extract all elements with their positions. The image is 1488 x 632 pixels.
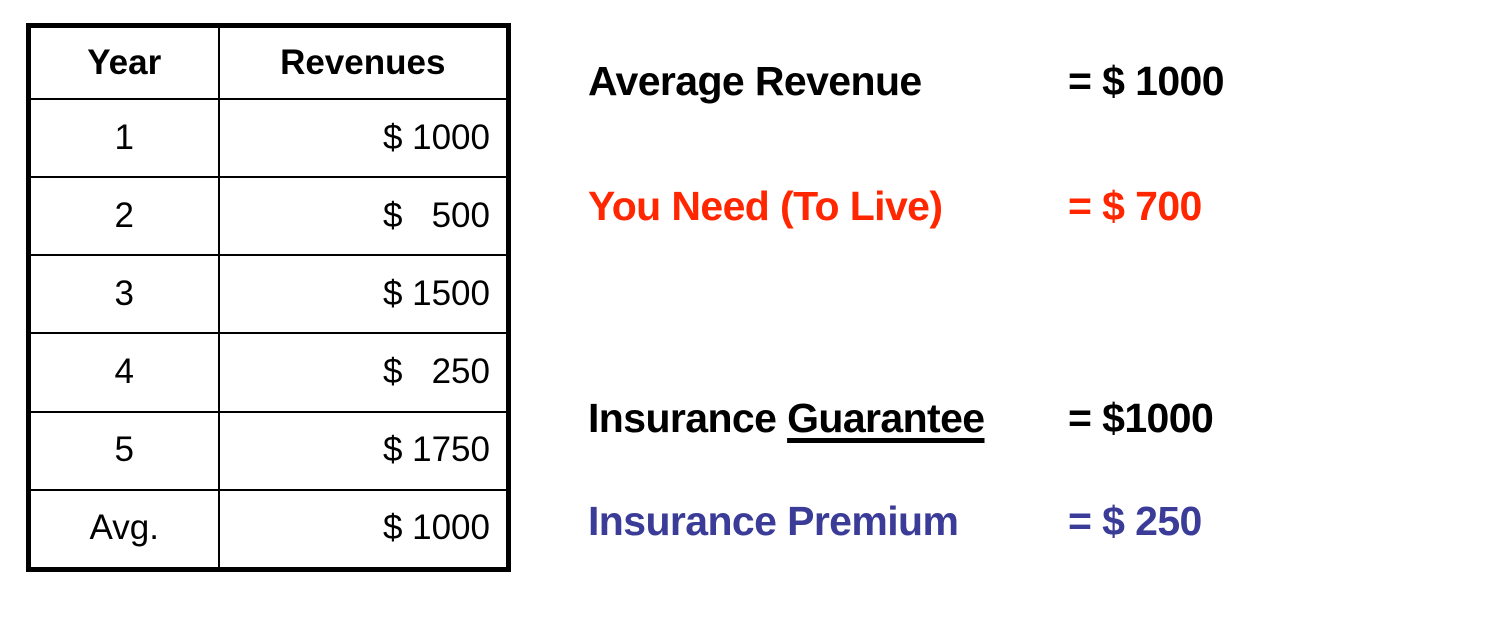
summary-label-average-revenue: Average Revenue — [588, 61, 1068, 102]
cell-revenue: $ 1500 — [219, 255, 509, 333]
revenue-table-container: Year Revenues 1 $ 1000 2 $ 500 3 $ 1500 — [26, 23, 506, 572]
summary-label-you-need: You Need (To Live) — [588, 186, 1068, 227]
cell-year: 2 — [29, 177, 219, 255]
summary-line-insurance-guarantee: Insurance Guarantee = $1000 — [588, 390, 1468, 446]
table-row: 5 $ 1750 — [29, 412, 509, 490]
cell-revenue: $ 1000 — [219, 99, 509, 177]
summary-line-you-need: You Need (To Live) = $ 700 — [588, 178, 1468, 234]
revenue-table: Year Revenues 1 $ 1000 2 $ 500 3 $ 1500 — [26, 23, 511, 572]
slide-canvas: Year Revenues 1 $ 1000 2 $ 500 3 $ 1500 — [0, 0, 1488, 632]
summary-block: Average Revenue = $ 1000 You Need (To Li… — [588, 23, 1468, 572]
summary-label-insurance-guarantee: Insurance Guarantee — [588, 398, 1068, 439]
summary-line-insurance-premium: Insurance Premium = $ 250 — [588, 493, 1468, 549]
summary-label-insurance-premium: Insurance Premium — [588, 501, 1068, 542]
cell-year: 1 — [29, 99, 219, 177]
summary-label-insurance-guarantee-prefix: Insurance — [588, 395, 787, 441]
table-row-average: Avg. $ 1000 — [29, 490, 509, 570]
column-header-year: Year — [29, 26, 219, 100]
table-row: 1 $ 1000 — [29, 99, 509, 177]
cell-revenue: $ 250 — [219, 333, 509, 411]
table-header: Year Revenues — [29, 26, 509, 100]
table-body: 1 $ 1000 2 $ 500 3 $ 1500 4 $ 250 5 — [29, 99, 509, 570]
column-header-revenues: Revenues — [219, 26, 509, 100]
cell-year: 3 — [29, 255, 219, 333]
table-row: 2 $ 500 — [29, 177, 509, 255]
summary-value-you-need: = $ 700 — [1068, 186, 1408, 227]
table-header-row: Year Revenues — [29, 26, 509, 100]
summary-value-average-revenue: = $ 1000 — [1068, 61, 1408, 102]
cell-year: 4 — [29, 333, 219, 411]
table-row: 4 $ 250 — [29, 333, 509, 411]
cell-revenue: $ 1750 — [219, 412, 509, 490]
summary-value-insurance-guarantee: = $1000 — [1068, 398, 1408, 439]
table-row: 3 $ 1500 — [29, 255, 509, 333]
cell-year: 5 — [29, 412, 219, 490]
cell-year-average: Avg. — [29, 490, 219, 570]
cell-revenue: $ 500 — [219, 177, 509, 255]
summary-value-insurance-premium: = $ 250 — [1068, 501, 1408, 542]
summary-label-insurance-guarantee-underlined: Guarantee — [787, 395, 984, 441]
cell-revenue-average: $ 1000 — [219, 490, 509, 570]
summary-line-average-revenue: Average Revenue = $ 1000 — [588, 53, 1468, 109]
